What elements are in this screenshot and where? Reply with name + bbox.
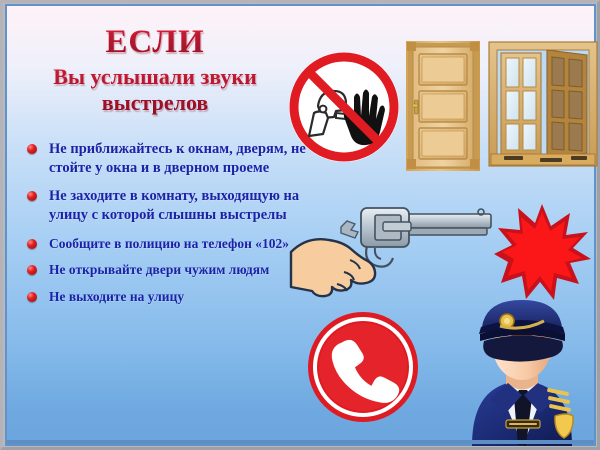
gunshot-burst-icon (494, 202, 591, 302)
no-entry-sign-icon (288, 51, 400, 163)
bullet-icon (27, 191, 37, 201)
list-item: Не выходите на улицу (23, 288, 313, 306)
list-item: Не приближайтесь к окнам, дверям, не сто… (23, 140, 313, 178)
list-item: Не открывайте двери чужим людям (23, 261, 313, 279)
wooden-door-image (406, 38, 480, 171)
page-subtitle-line-1: Вы услышали звуки (21, 65, 289, 90)
page-subtitle-line-2: выстрелов (21, 91, 289, 116)
safety-poster: ЕСЛИ Вы услышали звуки выстрелов Не приб… (0, 0, 600, 450)
bullet-icon (27, 144, 37, 154)
phone-sign-icon (307, 311, 419, 423)
list-item: Сообщите в полицию на телефон «102» (23, 235, 313, 253)
list-item-label: Не приближайтесь к окнам, дверям, не сто… (49, 141, 306, 176)
bullet-icon (27, 265, 37, 275)
list-item-label: Не заходите в комнату, выходящую на улиц… (49, 188, 299, 223)
bullet-icon (27, 239, 37, 249)
wooden-window-image (488, 40, 598, 168)
policeman-avatar (450, 289, 595, 446)
page-title: ЕСЛИ (21, 24, 289, 61)
list-item-label: Сообщите в полицию на телефон «102» (49, 236, 289, 251)
bullet-icon (27, 292, 37, 302)
poster-inner-frame: ЕСЛИ Вы услышали звуки выстрелов Не приб… (5, 4, 596, 446)
list-item-label: Не открывайте двери чужим людям (49, 262, 269, 277)
safety-tips-list: Не приближайтесь к окнам, дверям, не сто… (23, 140, 313, 315)
poster-title-block: ЕСЛИ Вы услышали звуки выстрелов (21, 24, 289, 115)
list-item-label: Не выходите на улицу (49, 289, 184, 304)
page-subtitle: Вы услышали звуки выстрелов (21, 65, 289, 115)
list-item: Не заходите в комнату, выходящую на улиц… (23, 187, 313, 225)
